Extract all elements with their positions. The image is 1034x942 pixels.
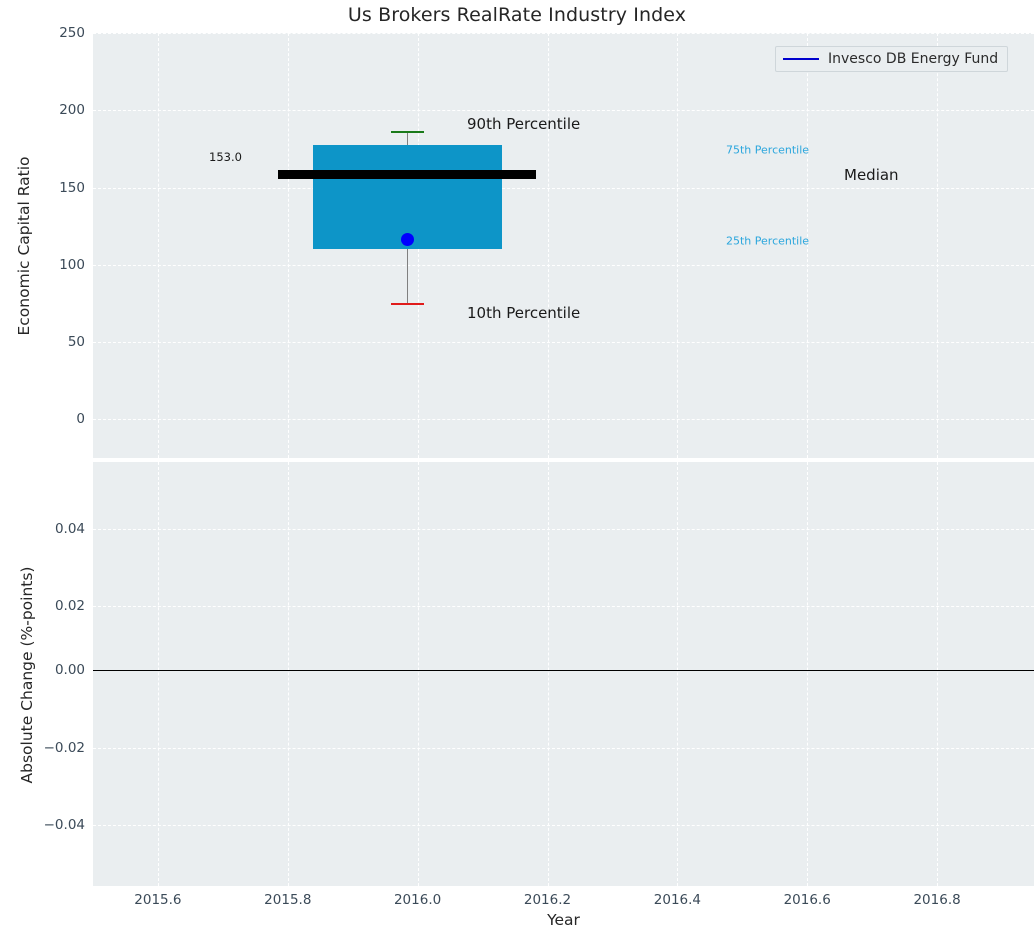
- gridline-vertical: [937, 33, 938, 458]
- y-tick-label: 0: [5, 411, 85, 427]
- gridline-vertical: [677, 462, 678, 886]
- y-tick-label: 0.02: [5, 598, 85, 614]
- x-tick-label: 2016.2: [524, 892, 571, 908]
- gridline-horizontal: [93, 529, 1034, 530]
- chart-title: Us Brokers RealRate Industry Index: [0, 4, 1034, 26]
- whisker-cap-upper-90th: [391, 131, 424, 133]
- gridline-vertical: [288, 462, 289, 886]
- y-tick-label: −0.02: [5, 740, 85, 756]
- gridline-horizontal: [93, 110, 1034, 111]
- gridline-vertical: [158, 33, 159, 458]
- chart-legend[interactable]: Invesco DB Energy Fund: [775, 46, 1008, 72]
- gridline-horizontal: [93, 342, 1034, 343]
- x-tick-label: 2016.4: [654, 892, 701, 908]
- gridline-vertical: [937, 462, 938, 886]
- x-tick-label: 2015.6: [134, 892, 181, 908]
- legend-line-icon: [783, 58, 819, 60]
- y-axis-ticks-bottom: 0.04 0.02 0.00 −0.02 −0.04: [0, 462, 85, 886]
- x-tick-label: 2016.0: [394, 892, 441, 908]
- gridline-horizontal: [93, 188, 1034, 189]
- y-tick-label: 250: [5, 25, 85, 41]
- gridline-vertical: [677, 33, 678, 458]
- annotation-90th-percentile: 90th Percentile: [467, 115, 580, 133]
- gridline-horizontal: [93, 265, 1034, 266]
- x-tick-label: 2015.8: [264, 892, 311, 908]
- gridline-horizontal: [93, 825, 1034, 826]
- annotation-median-value: 153.0: [209, 150, 242, 164]
- y-tick-label: −0.04: [5, 817, 85, 833]
- gridline-vertical: [807, 462, 808, 886]
- x-tick-label: 2016.6: [784, 892, 831, 908]
- y-axis-ticks-top: 250 200 150 100 50 0: [0, 33, 85, 458]
- y-tick-label: 200: [5, 102, 85, 118]
- fund-marker-invesco-db-energy-fund: [401, 233, 414, 246]
- median-bar: [278, 170, 536, 179]
- gridline-vertical: [288, 33, 289, 458]
- gridline-horizontal: [93, 606, 1034, 607]
- gridline-vertical: [548, 33, 549, 458]
- y-tick-label: 0.04: [5, 521, 85, 537]
- x-tick-label: 2016.8: [913, 892, 960, 908]
- y-axis-label-top: Economic Capital Ratio: [15, 146, 33, 346]
- y-axis-label-bottom: Absolute Change (%-points): [18, 545, 36, 805]
- annotation-75th-percentile: 75th Percentile: [726, 144, 809, 157]
- gridline-vertical: [548, 462, 549, 886]
- y-tick-label: 0.00: [5, 662, 85, 678]
- chart-figure: Us Brokers RealRate Industry Index 90th …: [0, 0, 1034, 942]
- x-axis-label: Year: [93, 911, 1034, 929]
- whisker-cap-lower-10th: [391, 303, 424, 305]
- gridline-vertical: [418, 462, 419, 886]
- gridline-vertical: [158, 462, 159, 886]
- gridline-horizontal: [93, 33, 1034, 34]
- gridline-horizontal: [93, 748, 1034, 749]
- annotation-median: Median: [844, 166, 899, 184]
- annotation-25th-percentile: 25th Percentile: [726, 235, 809, 248]
- gridline-horizontal: [93, 419, 1034, 420]
- plot-panel-absolute-change: [93, 462, 1034, 886]
- legend-entry-label: Invesco DB Energy Fund: [828, 51, 998, 67]
- annotation-10th-percentile: 10th Percentile: [467, 304, 580, 322]
- plot-panel-economic-capital-ratio: 90th Percentile 10th Percentile Median 7…: [93, 33, 1034, 458]
- zero-reference-line: [93, 670, 1034, 671]
